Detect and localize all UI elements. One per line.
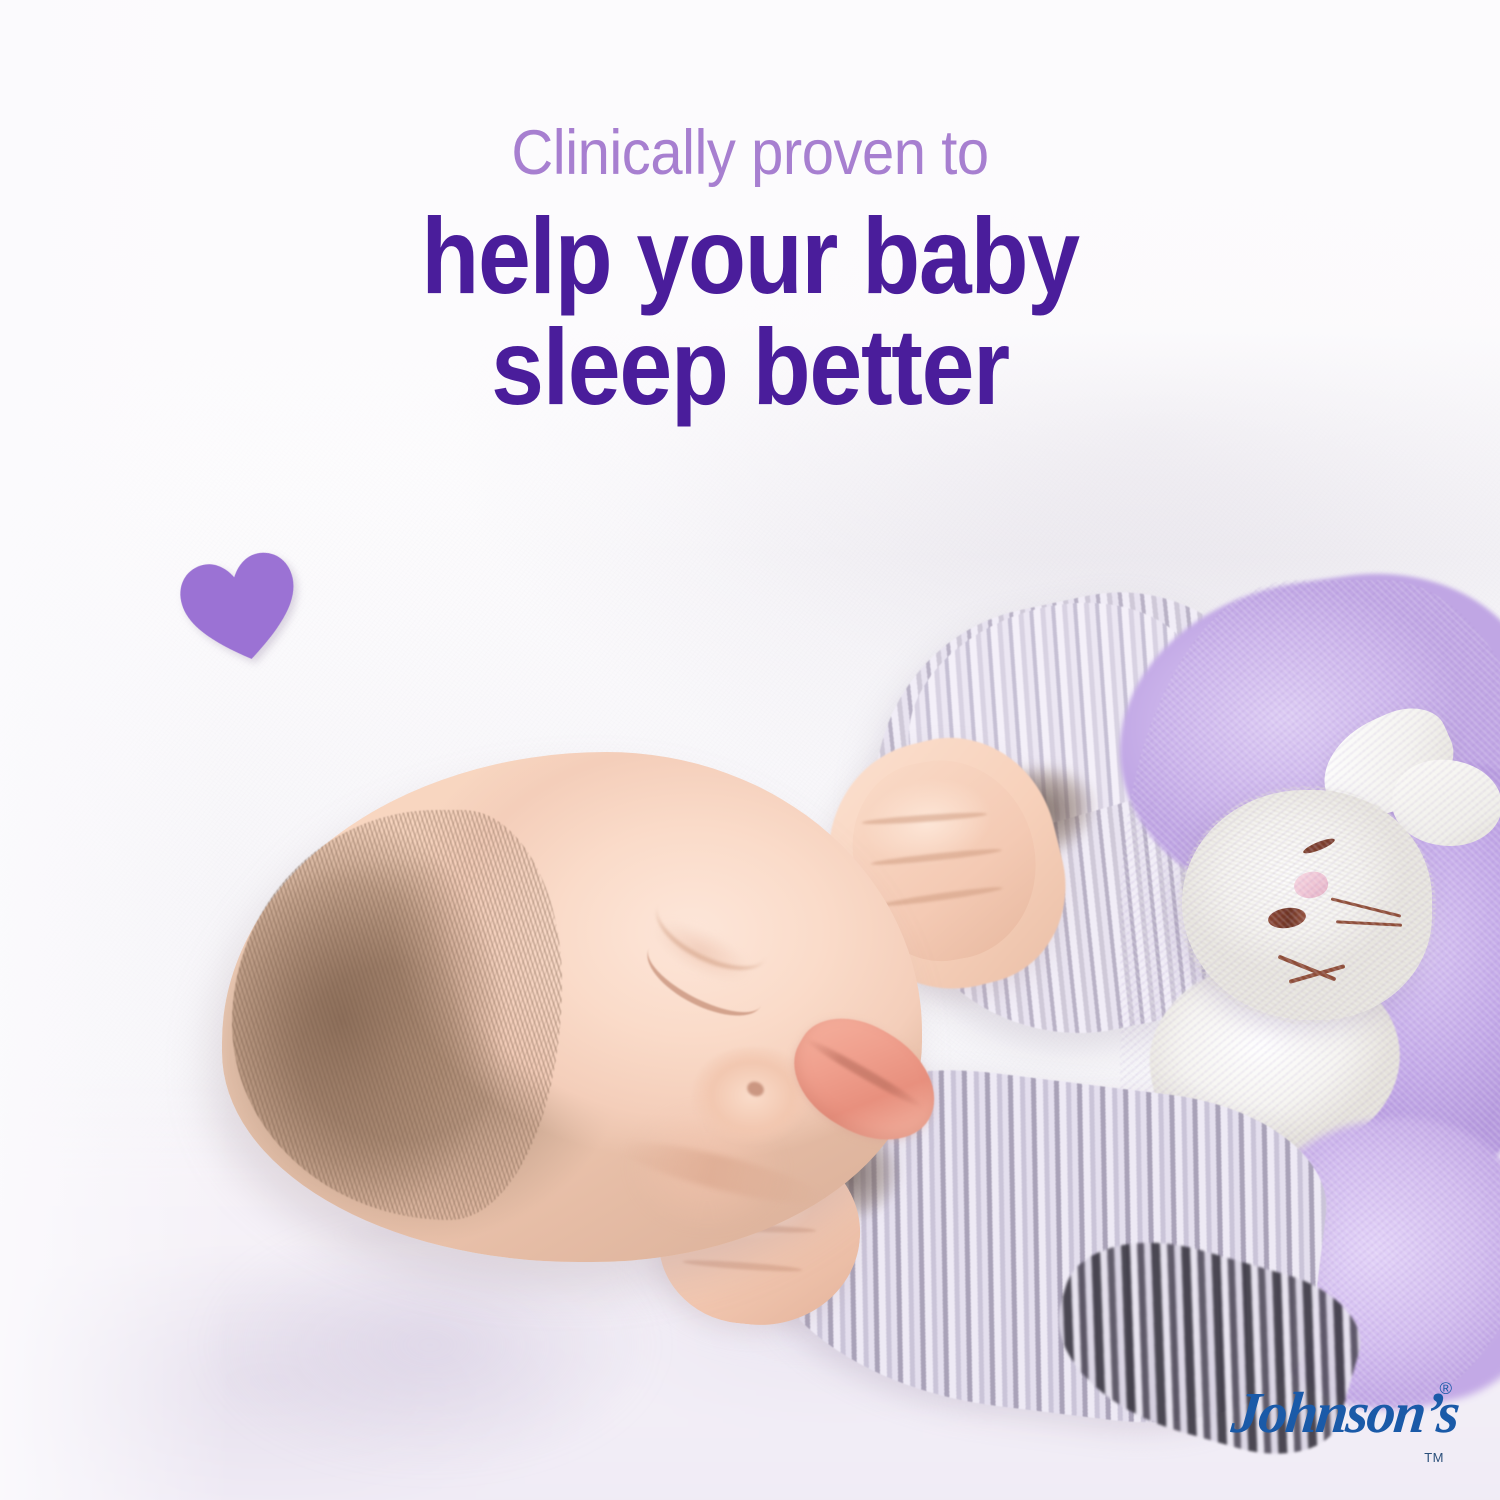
headline-line-2: sleep better xyxy=(90,311,1410,422)
trademark-icon: TM xyxy=(1424,1451,1444,1464)
eyebrow-text: Clinically proven to xyxy=(60,120,1440,186)
brand-logo: Johnson’s ® TM xyxy=(1232,1378,1450,1460)
main-headline: help your baby sleep better xyxy=(90,200,1410,422)
registered-trademark-icon: ® xyxy=(1439,1380,1452,1397)
plush-bunny-fur-texture xyxy=(1178,786,1436,1024)
ad-canvas: Clinically proven to help your baby slee… xyxy=(0,0,1500,1500)
headline-line-1: help your baby xyxy=(421,195,1078,316)
brand-wordmark: Johnson’s xyxy=(1229,1384,1461,1442)
headline-block: Clinically proven to help your baby slee… xyxy=(0,120,1500,423)
